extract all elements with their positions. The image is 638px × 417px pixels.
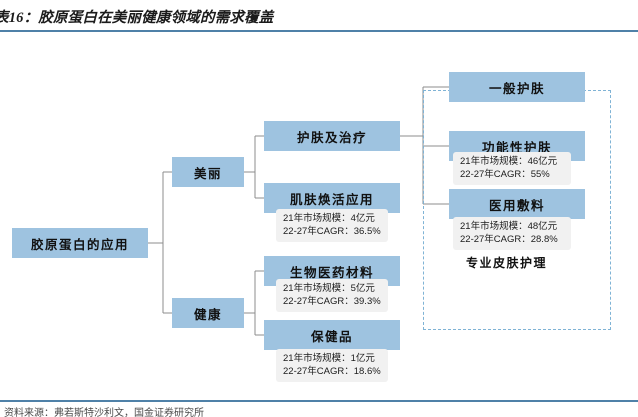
stat-health-products-market-size: 21年市场规模：1亿元 xyxy=(283,353,382,366)
figure-title: 表16：胶原蛋白在美丽健康领域的需求覆盖 xyxy=(0,6,334,27)
stat-functional-skincare-cagr: 22-27年CAGR：55% xyxy=(460,169,565,182)
node-subcategory-general-skincare-label: 一般护肤 xyxy=(489,78,545,97)
stat-health-products: 21年市场规模：1亿元 22-27年CAGR：18.6% xyxy=(276,349,388,382)
footer-rule xyxy=(0,400,638,402)
node-root[interactable]: 胶原蛋白的应用 xyxy=(12,228,148,258)
node-category-skin-rejuvenation-label: 肌肤焕活应用 xyxy=(290,189,374,208)
stat-medical-dressing: 21年市场规模：48亿元 22-27年CAGR：28.8% xyxy=(453,217,571,250)
node-subcategory-medical-dressing-label: 医用敷料 xyxy=(489,195,545,214)
node-branch-health-label: 健康 xyxy=(194,304,222,323)
stat-skin-rejuvenation: 21年市场规模：4亿元 22-27年CAGR：36.5% xyxy=(276,209,388,242)
node-category-skincare-treatment-label: 护肤及治疗 xyxy=(297,127,367,146)
source-note: 资料来源：弗若斯特沙利文，国金证券研究所 xyxy=(4,404,604,417)
stat-health-products-cagr: 22-27年CAGR：18.6% xyxy=(283,366,382,379)
stat-biomedical-materials: 21年市场规模：5亿元 22-27年CAGR：39.3% xyxy=(276,279,388,312)
node-category-health-products[interactable]: 保健品 xyxy=(264,320,400,350)
stat-medical-dressing-cagr: 22-27年CAGR：28.8% xyxy=(460,234,565,247)
node-branch-beauty[interactable]: 美丽 xyxy=(172,157,244,187)
stat-medical-dressing-market-size: 21年市场规模：48亿元 xyxy=(460,221,565,234)
stat-functional-skincare-market-size: 21年市场规模：46亿元 xyxy=(460,156,565,169)
stat-skin-rejuvenation-market-size: 21年市场规模：4亿元 xyxy=(283,213,382,226)
stat-functional-skincare: 21年市场规模：46亿元 22-27年CAGR：55% xyxy=(453,152,571,185)
node-branch-health[interactable]: 健康 xyxy=(172,298,244,328)
stat-skin-rejuvenation-cagr: 22-27年CAGR：36.5% xyxy=(283,226,382,239)
node-subcategory-medical-dressing[interactable]: 医用敷料 xyxy=(449,189,585,219)
stat-biomedical-materials-cagr: 22-27年CAGR：39.3% xyxy=(283,296,382,309)
node-branch-beauty-label: 美丽 xyxy=(194,163,222,182)
node-category-skincare-treatment[interactable]: 护肤及治疗 xyxy=(264,121,400,151)
professional-skincare-group-label: 专业皮肤护理 xyxy=(466,254,547,271)
node-subcategory-general-skincare[interactable]: 一般护肤 xyxy=(449,72,585,102)
node-category-biomedical-materials-label: 生物医药材料 xyxy=(290,262,374,281)
diagram-canvas: 专业皮肤护理 xyxy=(0,32,638,400)
node-root-label: 胶原蛋白的应用 xyxy=(31,234,129,253)
stat-biomedical-materials-market-size: 21年市场规模：5亿元 xyxy=(283,283,382,296)
node-category-health-products-label: 保健品 xyxy=(311,326,353,345)
